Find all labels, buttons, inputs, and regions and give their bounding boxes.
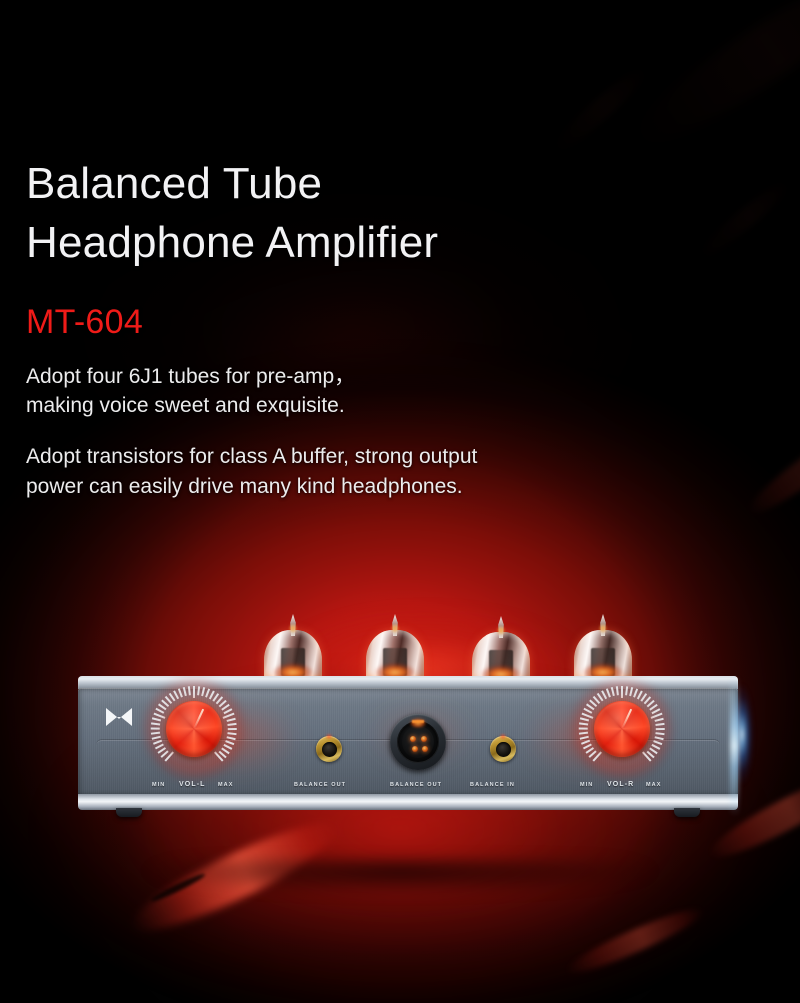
bowtie-logo-icon	[104, 706, 134, 728]
headline-line-2: Headphone Amplifier	[26, 214, 666, 272]
knob-tick	[656, 723, 665, 726]
knob-tick	[580, 718, 589, 722]
feature-paragraph-1: Adopt four 6J1 tubes for pre-amp， making…	[26, 362, 666, 422]
label-vol-left: VOL-L	[179, 781, 206, 788]
knob-tick	[227, 736, 236, 740]
jack-hole	[322, 742, 337, 757]
vacuum-tube-row	[78, 596, 738, 682]
knob-pointer	[193, 709, 204, 730]
tube-tip-glow	[599, 623, 607, 634]
knob-dial[interactable]	[579, 686, 665, 772]
knob-tick	[580, 736, 589, 740]
chassis-bottom-rail	[78, 794, 738, 810]
knob-tick	[579, 728, 588, 730]
label-min-right: MIN	[580, 782, 593, 788]
knob-tick	[151, 732, 160, 735]
knob-tick	[152, 736, 161, 740]
product-shadow	[50, 860, 750, 916]
headline-line-1: Balanced Tube	[26, 155, 666, 213]
feature-2-line-1: Adopt transistors for class A buffer, st…	[26, 442, 666, 472]
label-balance-in: BALANCE IN	[470, 782, 515, 788]
balance-out-jack[interactable]	[316, 736, 342, 762]
knob-tick	[228, 723, 237, 726]
vacuum-tube-icon	[366, 624, 424, 682]
label-vol-right: VOL-R	[607, 781, 634, 788]
marketing-copy: Balanced Tube Headphone Amplifier MT-604…	[26, 126, 666, 523]
vacuum-tube-icon	[264, 624, 322, 682]
product-poster: Balanced Tube Headphone Amplifier MT-604…	[0, 0, 800, 1003]
tube-tip-glow	[497, 625, 505, 636]
amplifier-chassis: MIN VOL-L MAX BALANCE OUT BALANCE OUT BA…	[78, 676, 738, 812]
knob-tick	[201, 687, 205, 696]
knob-tick	[656, 732, 665, 735]
knob-tick	[654, 740, 663, 745]
knob-tick	[621, 686, 623, 698]
knob-tick	[625, 686, 628, 695]
tube-tip-glow	[391, 623, 399, 634]
knob-tick	[616, 686, 619, 695]
vacuum-tube-icon	[574, 624, 632, 682]
knob-tick	[151, 728, 160, 730]
feature-1-line-2: making voice sweet and exquisite.	[26, 391, 666, 421]
knob-tick	[629, 687, 633, 696]
amplifier-product-image: MIN VOL-L MAX BALANCE OUT BALANCE OUT BA…	[78, 596, 738, 856]
knob-tick	[226, 740, 235, 745]
feature-paragraph-2: Adopt transistors for class A buffer, st…	[26, 442, 666, 502]
chassis-foot	[674, 808, 700, 817]
jack-glow	[499, 734, 507, 739]
xlr-face	[402, 726, 434, 758]
blue-lens-flare	[714, 680, 770, 810]
volume-right-knob[interactable]	[568, 682, 676, 776]
knob-tick	[152, 718, 161, 722]
knob-tick	[188, 686, 191, 695]
knob-cap[interactable]	[594, 701, 650, 757]
balance-out-xlr-connector[interactable]	[390, 714, 446, 770]
knob-pointer	[621, 709, 632, 730]
model-number: MT-604	[26, 301, 666, 344]
feature-1-line-1: Adopt four 6J1 tubes for pre-amp，	[26, 362, 666, 392]
knob-tick	[611, 687, 615, 696]
label-min-left: MIN	[152, 782, 165, 788]
balance-in-jack[interactable]	[490, 736, 516, 762]
knob-tick	[228, 728, 237, 730]
volume-left-knob[interactable]	[140, 682, 248, 776]
knob-tick	[655, 736, 664, 740]
chassis-foot	[116, 808, 142, 817]
jack-hole	[496, 742, 511, 757]
knob-tick	[655, 718, 664, 722]
knob-tick	[656, 728, 665, 730]
xlr-pin	[422, 746, 428, 752]
xlr-pin	[412, 746, 418, 752]
label-balance-out-xlr: BALANCE OUT	[390, 782, 442, 788]
knob-tick	[579, 723, 588, 726]
xlr-pin	[410, 736, 416, 742]
knob-tick	[197, 686, 200, 695]
knob-tick	[579, 732, 588, 735]
knob-tick	[183, 687, 187, 696]
xlr-notch-bar	[412, 720, 424, 723]
label-balance-out-jack: BALANCE OUT	[294, 782, 346, 788]
label-max-left: MAX	[218, 782, 234, 788]
knob-tick	[228, 732, 237, 735]
jack-glow	[325, 734, 333, 739]
knob-tick	[178, 689, 183, 698]
knob-dial[interactable]	[151, 686, 237, 772]
feature-2-line-2: power can easily drive many kind headpho…	[26, 472, 666, 502]
knob-tick	[606, 689, 611, 698]
xlr-pin	[421, 736, 427, 742]
knob-tick	[193, 686, 195, 698]
knob-tick	[151, 723, 160, 726]
label-max-right: MAX	[646, 782, 662, 788]
blue-lens-flare-streak	[730, 676, 739, 816]
knob-tick	[227, 718, 236, 722]
page-title: Balanced Tube Headphone Amplifier	[26, 155, 666, 271]
knob-cap[interactable]	[166, 701, 222, 757]
tube-tip-glow	[289, 623, 297, 634]
